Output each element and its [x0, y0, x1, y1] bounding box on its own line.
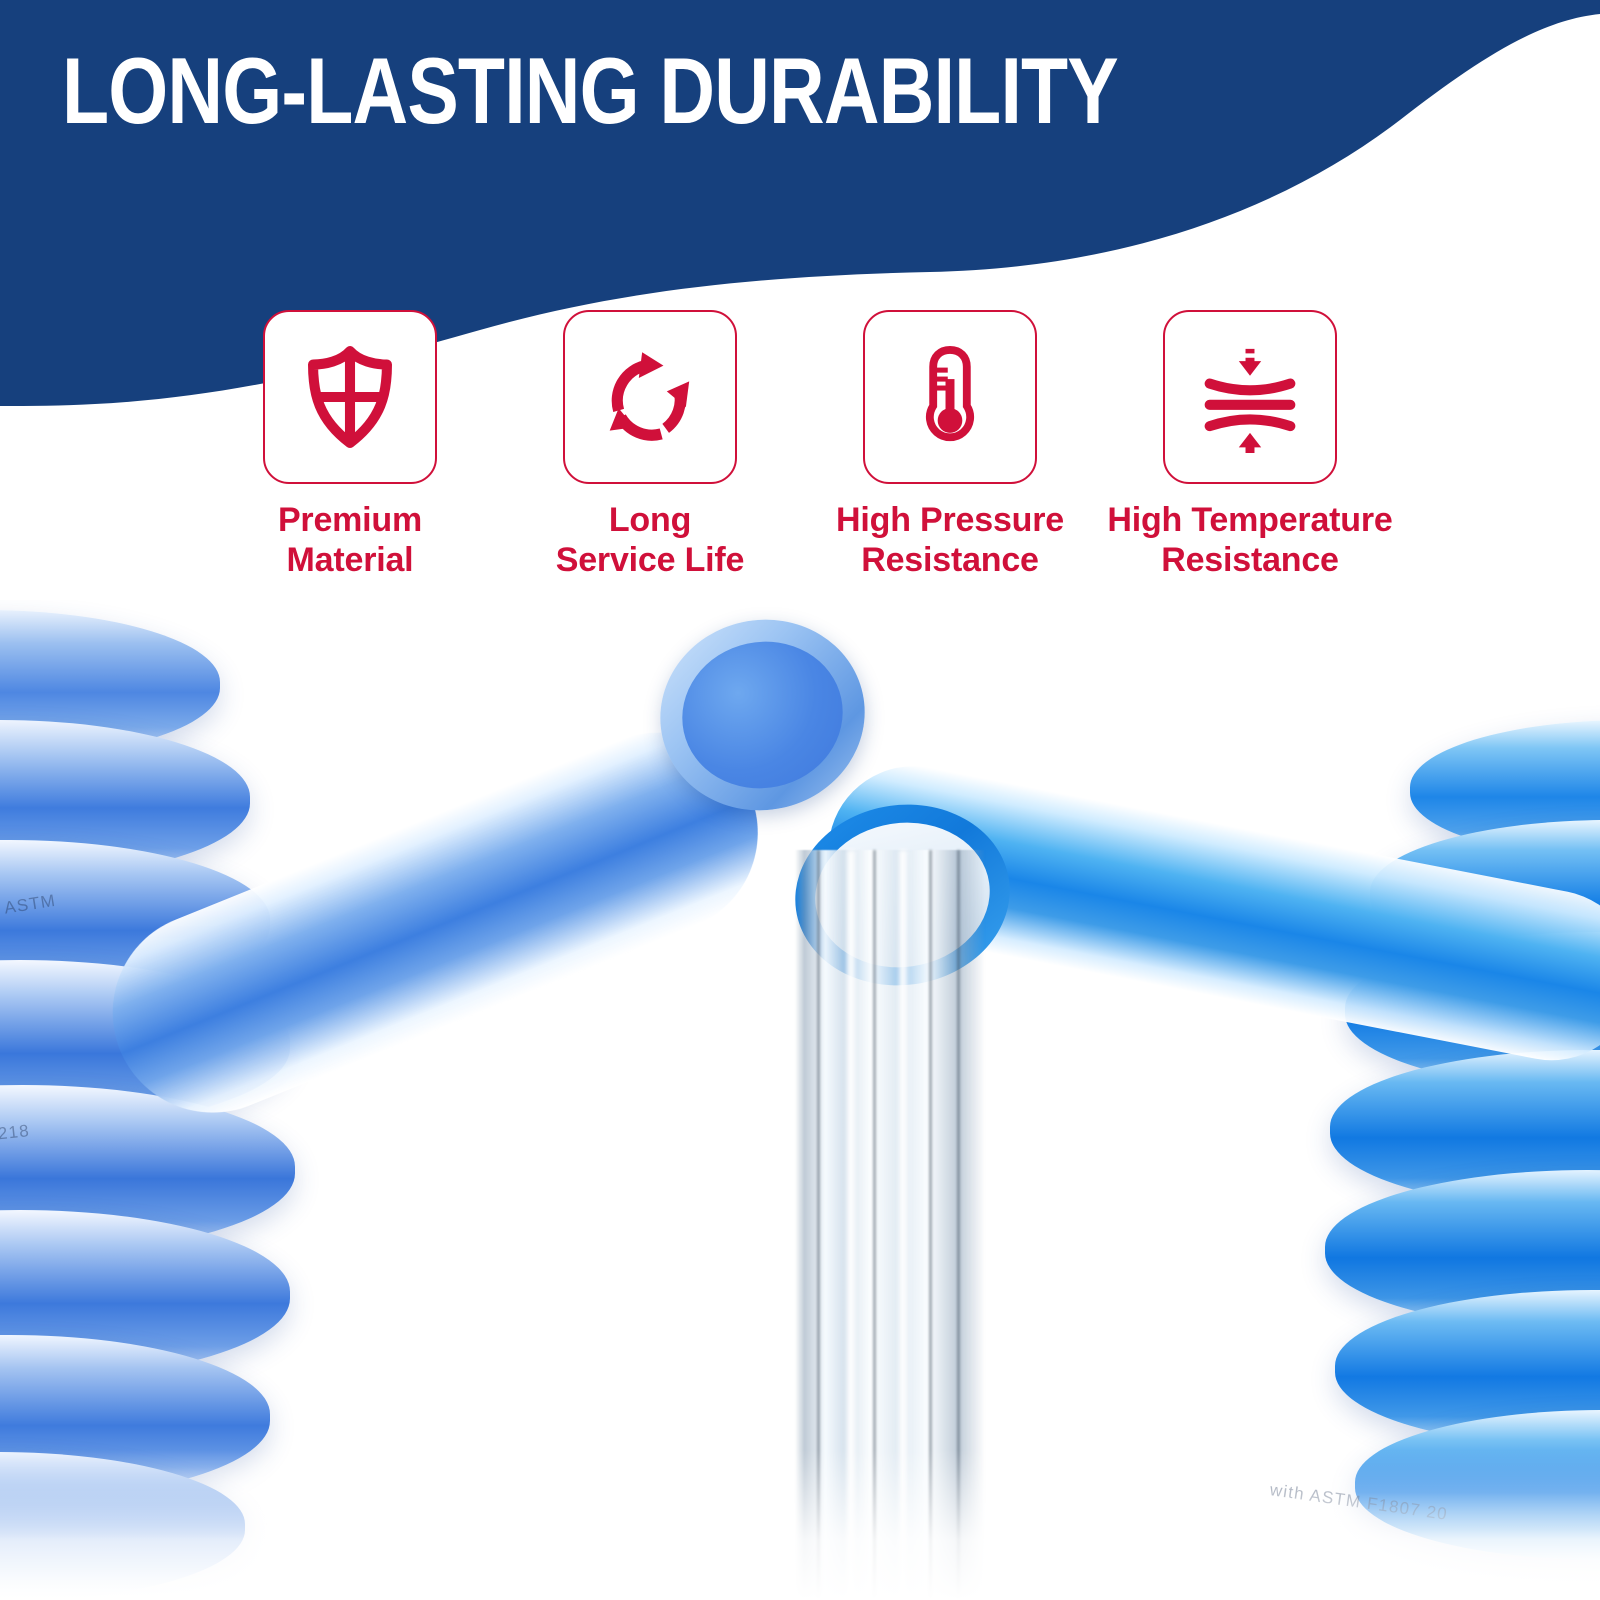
feature-icon-box — [1163, 310, 1337, 484]
compression-arrows-icon — [1194, 341, 1306, 453]
thermometer-icon — [894, 341, 1006, 453]
feature-long-service-life[interactable]: Long Service Life — [500, 310, 800, 580]
feature-label-line1: Long — [556, 500, 745, 540]
feature-label-line2: Material — [278, 540, 422, 580]
feature-label-line2: Resistance — [836, 540, 1064, 580]
feature-icon-box — [263, 310, 437, 484]
feature-label-line2: Service Life — [556, 540, 745, 580]
feature-label-line1: High Pressure — [836, 500, 1064, 540]
page-title: LONG-LASTING DURABILITY — [62, 44, 1095, 138]
feature-label: High Pressure Resistance — [836, 500, 1064, 580]
hose-cut-end — [642, 601, 882, 829]
ground-reflection — [0, 1450, 1600, 1600]
feature-icon-box — [563, 310, 737, 484]
feature-label-line1: High Temperature — [1107, 500, 1392, 540]
feature-row: Premium Material Long — [0, 310, 1600, 600]
product-photo: with ASTM 20181218 with ASTM F1807 20 — [0, 600, 1600, 1600]
feature-label: Long Service Life — [556, 500, 745, 580]
marketing-image-canvas: with ASTM 20181218 with ASTM F1807 20 — [0, 0, 1600, 1600]
shield-icon — [294, 341, 406, 453]
feature-label-line2: Resistance — [1107, 540, 1392, 580]
feature-premium-material[interactable]: Premium Material — [200, 310, 500, 580]
feature-icon-box — [863, 310, 1037, 484]
recycle-arrows-icon — [594, 341, 706, 453]
feature-label-line1: Premium — [278, 500, 422, 540]
feature-label: Premium Material — [278, 500, 422, 580]
feature-label: High Temperature Resistance — [1107, 500, 1392, 580]
feature-high-pressure-resistance[interactable]: High Pressure Resistance — [800, 310, 1100, 580]
feature-high-temperature-resistance[interactable]: High Temperature Resistance — [1100, 310, 1400, 580]
